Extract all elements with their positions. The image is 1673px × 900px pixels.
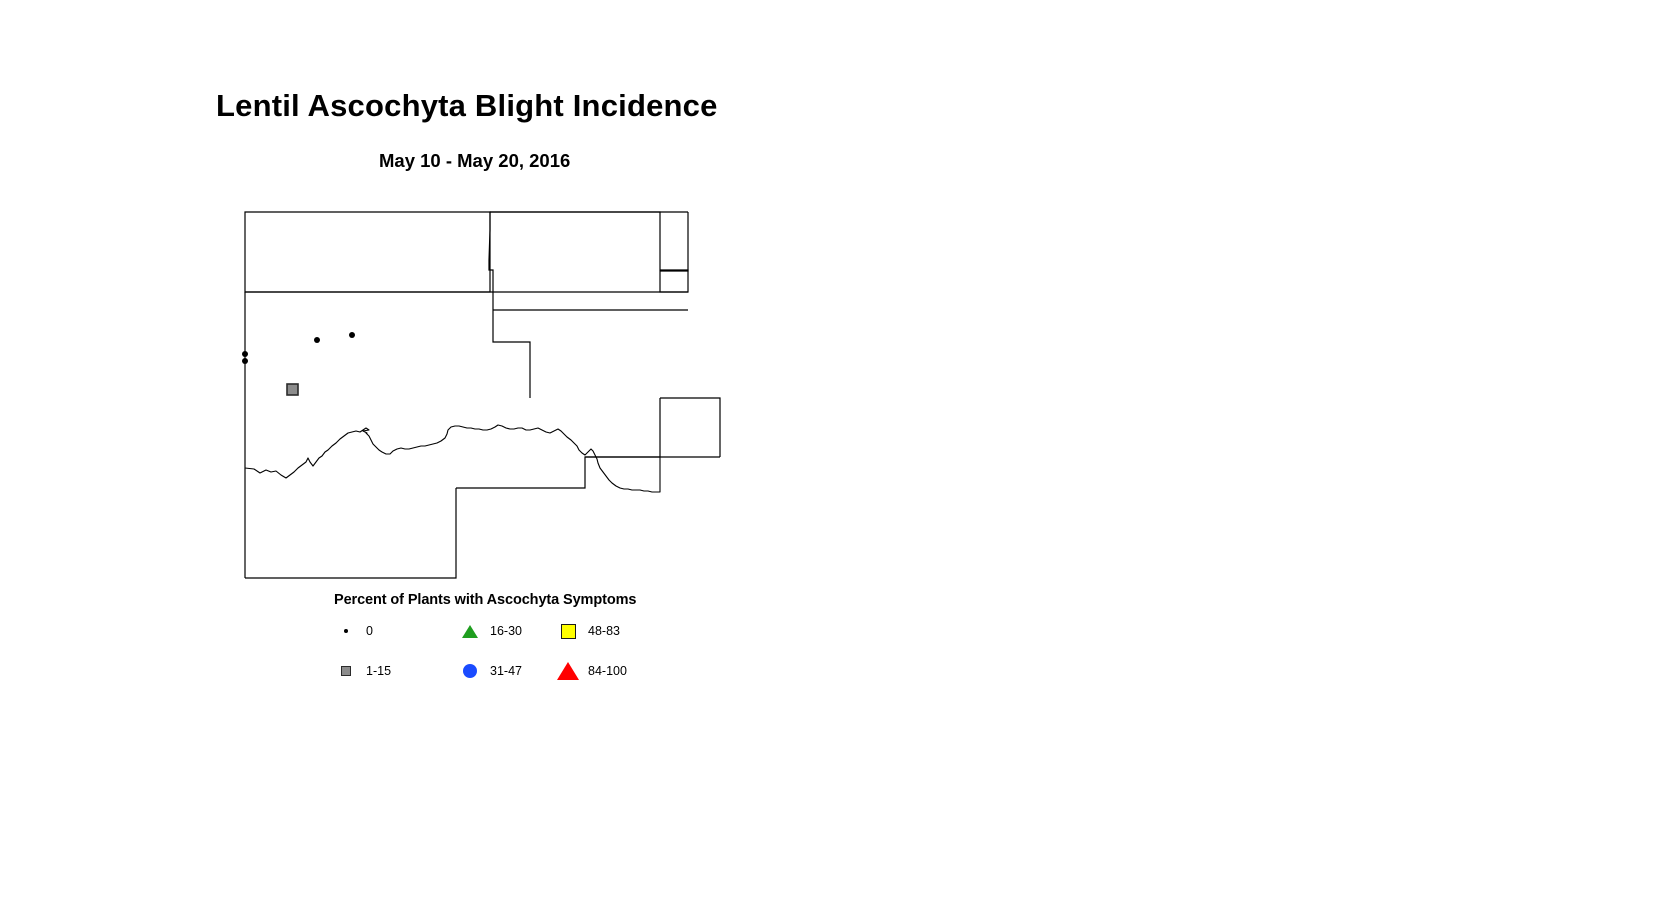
page-subtitle: May 10 - May 20, 2016	[379, 150, 570, 172]
map-legend: Percent of Plants with Ascochyta Symptom…	[334, 592, 664, 680]
yellow-square-marker-icon	[556, 624, 580, 639]
legend-label: 16-30	[490, 624, 522, 638]
boundary-east-panel	[660, 398, 720, 457]
district-northwest	[245, 212, 490, 292]
blue-circle-marker-icon	[458, 664, 482, 678]
legend-label: 1-15	[366, 664, 391, 678]
data-point-dot[interactable]	[242, 351, 248, 357]
district-northeast-notch	[660, 212, 688, 292]
region-map	[240, 200, 740, 600]
legend-entry-31-47[interactable]: 31-47	[458, 662, 556, 680]
dot-marker-icon	[334, 629, 358, 633]
legend-label: 48-83	[588, 624, 620, 638]
river-boundary	[245, 425, 660, 492]
district-boundaries	[245, 212, 720, 578]
green-triangle-marker-icon	[458, 625, 482, 638]
legend-label: 84-100	[588, 664, 627, 678]
river-path	[245, 425, 660, 492]
legend-label: 31-47	[490, 664, 522, 678]
legend-entry-84-100[interactable]: 84-100	[556, 662, 664, 680]
legend-entry-0[interactable]: 0	[334, 622, 458, 640]
data-points	[242, 332, 355, 395]
boundary-south-central	[456, 457, 660, 488]
legend-label: 0	[366, 624, 373, 638]
legend-title: Percent of Plants with Ascochyta Symptom…	[334, 592, 664, 608]
legend-entry-16-30[interactable]: 16-30	[458, 622, 556, 640]
red-triangle-marker-icon	[556, 662, 580, 680]
legend-entry-48-83[interactable]: 48-83	[556, 622, 664, 640]
gray-square-marker-icon	[334, 666, 358, 676]
boundary-east-central-step	[493, 292, 530, 398]
legend-entries: 0 16-30 48-83 1-15	[334, 622, 664, 680]
page-title: Lentil Ascochyta Blight Incidence	[216, 88, 718, 124]
legend-entry-1-15[interactable]: 1-15	[334, 662, 458, 680]
boundary-south-west	[245, 488, 456, 578]
data-point-dot[interactable]	[314, 337, 320, 343]
map-figure	[240, 200, 740, 600]
data-point-dot[interactable]	[242, 358, 248, 364]
data-point-square[interactable]	[287, 384, 298, 395]
data-point-dot[interactable]	[349, 332, 355, 338]
map-page: Lentil Ascochyta Blight Incidence May 10…	[0, 0, 1673, 900]
district-northeast-upper	[489, 212, 688, 292]
